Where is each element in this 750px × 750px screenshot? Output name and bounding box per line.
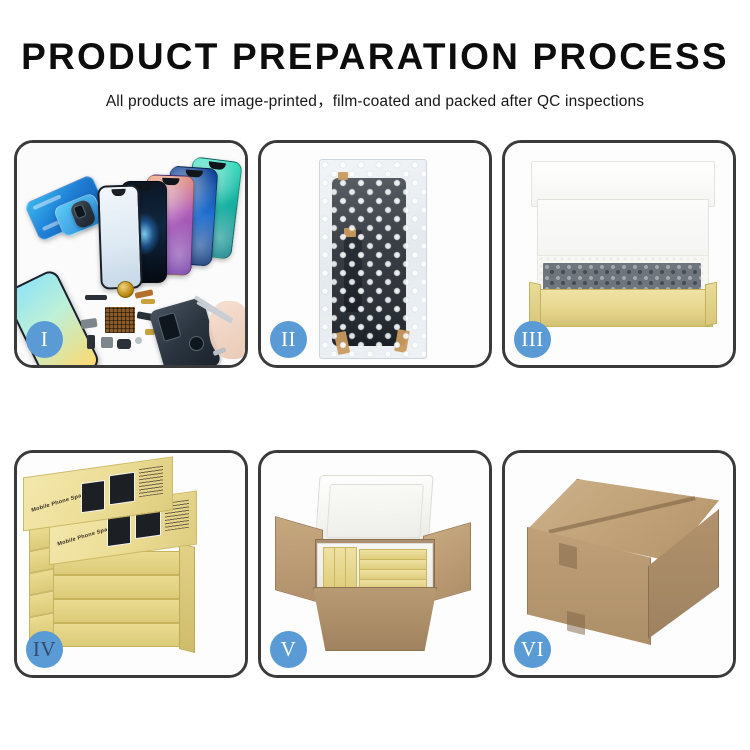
step-badge-5: V <box>270 631 307 668</box>
carton-tab-upper <box>559 543 577 569</box>
sim-tray-part <box>87 335 95 349</box>
stack-box-edge-8 <box>53 599 195 623</box>
foam-lid <box>314 475 433 549</box>
process-step-panel-6[interactable]: VI <box>502 450 736 678</box>
page-title: PRODUCT PREPARATION PROCESS <box>0 38 750 77</box>
box-window-back-1 <box>81 480 105 513</box>
earpiece-part <box>117 339 131 349</box>
box-left-wall <box>529 282 541 327</box>
carton-body <box>313 587 437 651</box>
step-badge-3: III <box>514 321 551 358</box>
step-badge-1: I <box>26 321 63 358</box>
box-spec-text-back <box>139 466 163 497</box>
stack-box-edge-7 <box>53 575 195 599</box>
process-step-panel-2[interactable]: II <box>258 140 492 368</box>
process-step-panel-4[interactable]: Mobile Phone Spare Parts Mobile Phone Sp… <box>14 450 248 678</box>
step-badge-2: II <box>270 321 307 358</box>
process-step-panel-5[interactable]: V <box>258 450 492 678</box>
inner-box-3 <box>345 547 357 591</box>
screw-set-part <box>135 337 142 344</box>
process-step-grid: I II III <box>14 140 736 678</box>
process-step-panel-3[interactable]: III <box>502 140 736 368</box>
box-front-wall <box>533 289 713 327</box>
logic-board-chip <box>105 307 135 333</box>
bubble-wrap-bag <box>319 159 427 359</box>
process-step-panel-1[interactable]: I <box>14 140 248 368</box>
stack-box-edge-9 <box>53 623 195 647</box>
step-badge-4: IV <box>26 631 63 668</box>
stack-box-right-side <box>179 543 195 653</box>
box-right-wall <box>705 282 717 327</box>
speaker-component <box>117 281 134 298</box>
page-subtitle: All products are image-printed，film-coat… <box>0 89 750 111</box>
battery-connector-part <box>85 295 107 300</box>
box-window-back-2 <box>109 472 135 506</box>
step-badge-6: VI <box>514 631 551 668</box>
fanned-phone-group <box>95 157 245 267</box>
flex-cable-2 <box>141 299 155 304</box>
vibrator-motor-part <box>101 337 113 348</box>
page-header: PRODUCT PREPARATION PROCESS All products… <box>0 0 750 111</box>
carton-tab-lower <box>567 611 585 635</box>
tempered-glass-panel <box>97 184 143 289</box>
